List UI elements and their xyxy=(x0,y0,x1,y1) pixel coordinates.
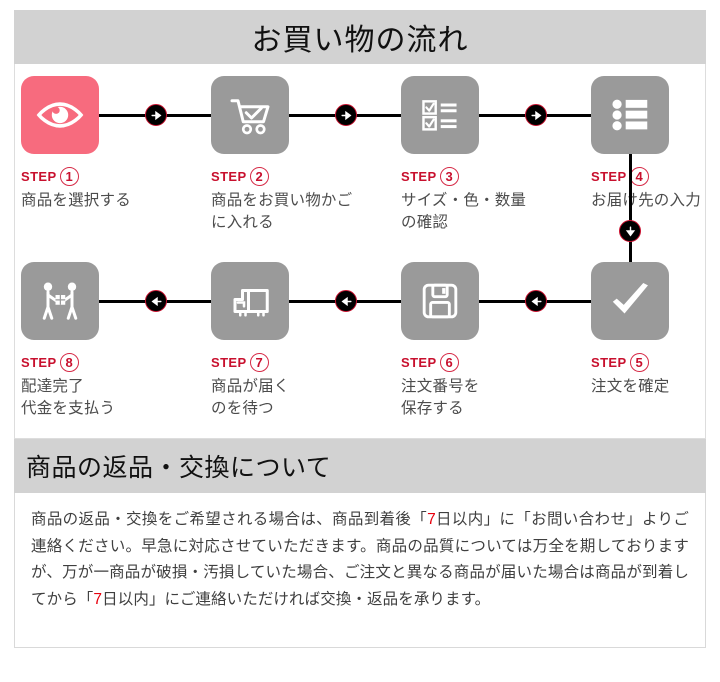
bulleted-list-icon xyxy=(607,92,653,138)
step-description: 商品をお買い物かご に入れる xyxy=(211,190,383,234)
step-label: STEP 1 xyxy=(21,166,193,186)
step-label: STEP 2 xyxy=(211,166,383,186)
flow-step-1[interactable]: STEP 1 商品を選択する xyxy=(21,76,193,212)
step-keyword: STEP xyxy=(401,169,437,184)
step-number: 5 xyxy=(630,353,649,372)
step-tile[interactable] xyxy=(591,262,669,340)
delivery-truck-icon xyxy=(226,277,274,325)
step-keyword: STEP xyxy=(401,355,437,370)
flow-row-top: STEP 1 商品を選択する xyxy=(15,76,705,262)
step-number: 1 xyxy=(60,167,79,186)
step-number: 2 xyxy=(250,167,269,186)
step-keyword: STEP xyxy=(21,355,57,370)
eye-icon xyxy=(35,90,85,140)
arrow-right-icon xyxy=(525,104,547,126)
step-keyword: STEP xyxy=(591,169,627,184)
policy-highlight-days-1: 7 xyxy=(427,511,436,528)
step-tile[interactable] xyxy=(211,76,289,154)
flow-step-5[interactable]: STEP 5 注文を確定 xyxy=(591,262,720,398)
arrow-left-icon xyxy=(145,290,167,312)
step-tile[interactable] xyxy=(21,76,99,154)
step-label: STEP 7 xyxy=(211,352,383,372)
step-tile[interactable] xyxy=(21,262,99,340)
shopping-cart-icon xyxy=(226,91,274,139)
shopping-flow-page: お買い物の流れ xyxy=(0,10,720,682)
arrow-left-icon xyxy=(525,290,547,312)
flow-step-4[interactable]: STEP 4 お届け先の入力 xyxy=(591,76,720,212)
step-number: 3 xyxy=(440,167,459,186)
step-label: STEP 6 xyxy=(401,352,573,372)
step-label: STEP 3 xyxy=(401,166,573,186)
step-number: 4 xyxy=(630,167,649,186)
policy-text-part-1: 商品の返品・交換をご希望される場合は、商品到着後「 xyxy=(31,511,427,528)
step-tile[interactable] xyxy=(401,262,479,340)
policy-text-part-3: 日以内」にご連絡いただければ交換・返品を承ります。 xyxy=(102,591,490,608)
step-description: お届け先の入力 xyxy=(591,190,720,212)
step-description: 注文を確定 xyxy=(591,376,720,398)
step-label: STEP 8 xyxy=(21,352,193,372)
step-tile[interactable] xyxy=(401,76,479,154)
step-label: STEP 5 xyxy=(591,352,720,372)
checklist-icon xyxy=(417,92,463,138)
step-keyword: STEP xyxy=(21,169,57,184)
package-handover-icon xyxy=(36,277,84,325)
step-number: 7 xyxy=(250,353,269,372)
flow-step-2[interactable]: STEP 2 商品をお買い物かご に入れる xyxy=(211,76,383,234)
flow-step-3[interactable]: STEP 3 サイズ・色・数量 の確認 xyxy=(401,76,573,234)
arrow-right-icon xyxy=(335,104,357,126)
step-keyword: STEP xyxy=(591,355,627,370)
step-description: 配達完了 代金を支払う xyxy=(21,376,193,420)
flow-step-6[interactable]: STEP 6 注文番号を 保存する xyxy=(401,262,573,420)
step-tile[interactable] xyxy=(591,76,669,154)
policy-highlight-days-2: 7 xyxy=(93,591,102,608)
checkmark-icon xyxy=(605,276,655,326)
step-description: 注文番号を 保存する xyxy=(401,376,573,420)
flow-row-bottom: STEP 8 配達完了 代金を支払う xyxy=(15,262,705,448)
flow-section-title: お買い物の流れ xyxy=(252,15,469,59)
step-description: 商品を選択する xyxy=(21,190,193,212)
step-description: 商品が届く のを待つ xyxy=(211,376,383,420)
step-number: 6 xyxy=(440,353,459,372)
step-keyword: STEP xyxy=(211,169,247,184)
arrow-left-icon xyxy=(335,290,357,312)
flow-panel: STEP 1 商品を選択する xyxy=(14,64,706,439)
arrow-right-icon xyxy=(145,104,167,126)
flow-step-8[interactable]: STEP 8 配達完了 代金を支払う xyxy=(21,262,193,420)
returns-policy-box: 商品の返品・交換をご希望される場合は、商品到着後「7日以内」に「お問い合わせ」よ… xyxy=(14,493,706,648)
flow-section-header: お買い物の流れ xyxy=(14,10,706,64)
step-keyword: STEP xyxy=(211,355,247,370)
returns-policy-text: 商品の返品・交換をご希望される場合は、商品到着後「7日以内」に「お問い合わせ」よ… xyxy=(31,507,689,614)
step-label: STEP 4 xyxy=(591,166,720,186)
step-number: 8 xyxy=(60,353,79,372)
step-tile[interactable] xyxy=(211,262,289,340)
floppy-disk-save-icon xyxy=(417,278,463,324)
returns-section-title: 商品の返品・交換について xyxy=(14,448,331,484)
arrow-down-icon xyxy=(619,220,641,242)
flow-step-7[interactable]: STEP 7 商品が届く のを待つ xyxy=(211,262,383,420)
step-description: サイズ・色・数量 の確認 xyxy=(401,190,573,234)
